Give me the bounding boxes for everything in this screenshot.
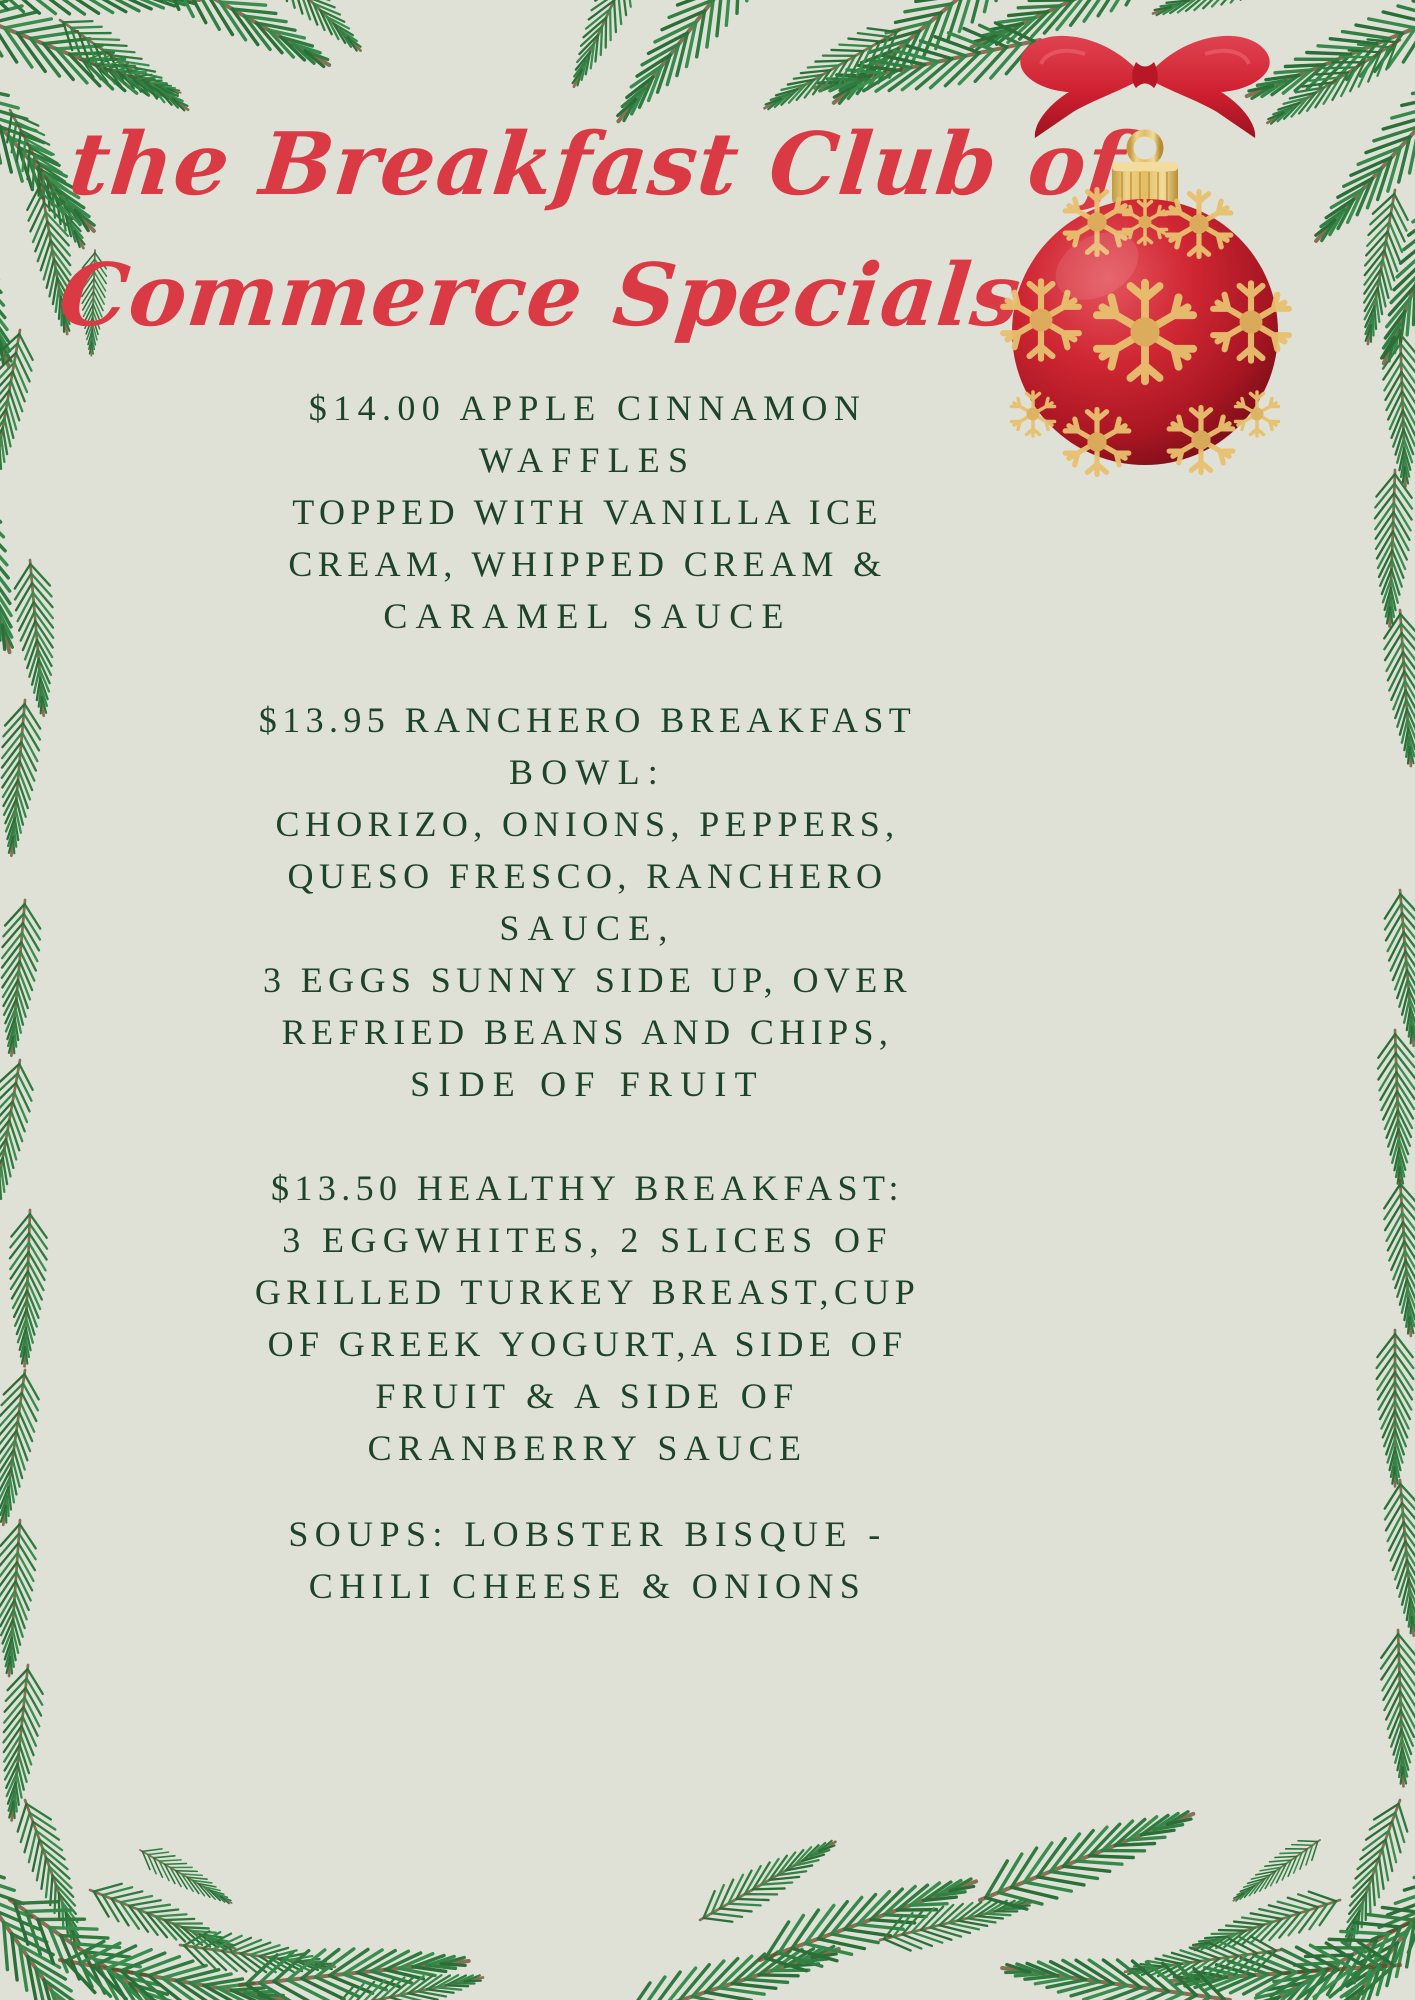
menu-line: SOUPS: LOBSTER BISQUE -: [50, 1508, 1125, 1560]
menu-line: TOPPED WITH VANILLA ICE: [50, 486, 1125, 538]
menu-line: SIDE OF FRUIT: [50, 1058, 1125, 1110]
pine-edge-left: [0, 855, 48, 1850]
menu-line: $13.50 HEALTHY BREAKFAST:: [50, 1162, 1125, 1214]
menu-poster: the Breakfast Club of Commerce Specials …: [0, 0, 1415, 2000]
menu-item-healthy-breakfast: $13.50 HEALTHY BREAKFAST: 3 EGGWHITES, 2…: [50, 1162, 1125, 1474]
pine-corner-bottom-left: [0, 1758, 472, 2000]
menu-line: OF GREEK YOGURT,A SIDE OF: [50, 1318, 1125, 1370]
pine-corner-bottom-right: [998, 1748, 1415, 2000]
menu-line: GRILLED TURKEY BREAST,CUP: [50, 1266, 1125, 1318]
title-line-1: the Breakfast Club of: [53, 100, 1007, 231]
menu-line: CRANBERRY SAUCE: [50, 1422, 1125, 1474]
menu-item-soups: SOUPS: LOBSTER BISQUE - CHILI CHEESE & O…: [50, 1508, 1125, 1612]
menu-line: 3 EGGS SUNNY SIDE UP, OVER: [50, 954, 1125, 1006]
menu-list: $14.00 APPLE CINNAMON WAFFLES TOPPED WIT…: [50, 382, 1125, 1612]
title-line-2: Commerce Specials: [53, 231, 1007, 362]
christmas-ball-ornament: [985, 0, 1315, 490]
menu-line: $13.95 RANCHERO BREAKFAST: [50, 694, 1125, 746]
menu-line: $14.00 APPLE CINNAMON: [50, 382, 1125, 434]
menu-line: REFRIED BEANS AND CHIPS,: [50, 1006, 1125, 1058]
menu-line: QUESO FRESCO, RANCHERO: [50, 850, 1125, 902]
menu-line: SAUCE,: [50, 902, 1125, 954]
menu-line: CREAM, WHIPPED CREAM &: [50, 538, 1125, 590]
ornament-svg: [985, 0, 1315, 490]
menu-line: 3 EGGWHITES, 2 SLICES OF: [50, 1214, 1125, 1266]
pine-edge-bottom: [326, 1789, 1203, 2000]
ornament-cap: [1112, 162, 1178, 204]
menu-line: BOWL:: [50, 746, 1125, 798]
menu-spacer: [50, 642, 1125, 694]
menu-spacer: [50, 1110, 1125, 1162]
menu-item-apple-cinnamon-waffles: $14.00 APPLE CINNAMON WAFFLES TOPPED WIT…: [50, 382, 1125, 642]
poster-title: the Breakfast Club of Commerce Specials: [60, 100, 1000, 361]
menu-spacer: [50, 1474, 1125, 1508]
menu-line: CHILI CHEESE & ONIONS: [50, 1560, 1125, 1612]
menu-item-ranchero-breakfast-bowl: $13.95 RANCHERO BREAKFAST BOWL: CHORIZO,…: [50, 694, 1125, 1110]
menu-line: CARAMEL SAUCE: [50, 590, 1125, 642]
pine-edge-right: [1377, 839, 1415, 1811]
menu-line: CHORIZO, ONIONS, PEPPERS,: [50, 798, 1125, 850]
menu-line: FRUIT & A SIDE OF: [50, 1370, 1125, 1422]
menu-line: WAFFLES: [50, 434, 1125, 486]
